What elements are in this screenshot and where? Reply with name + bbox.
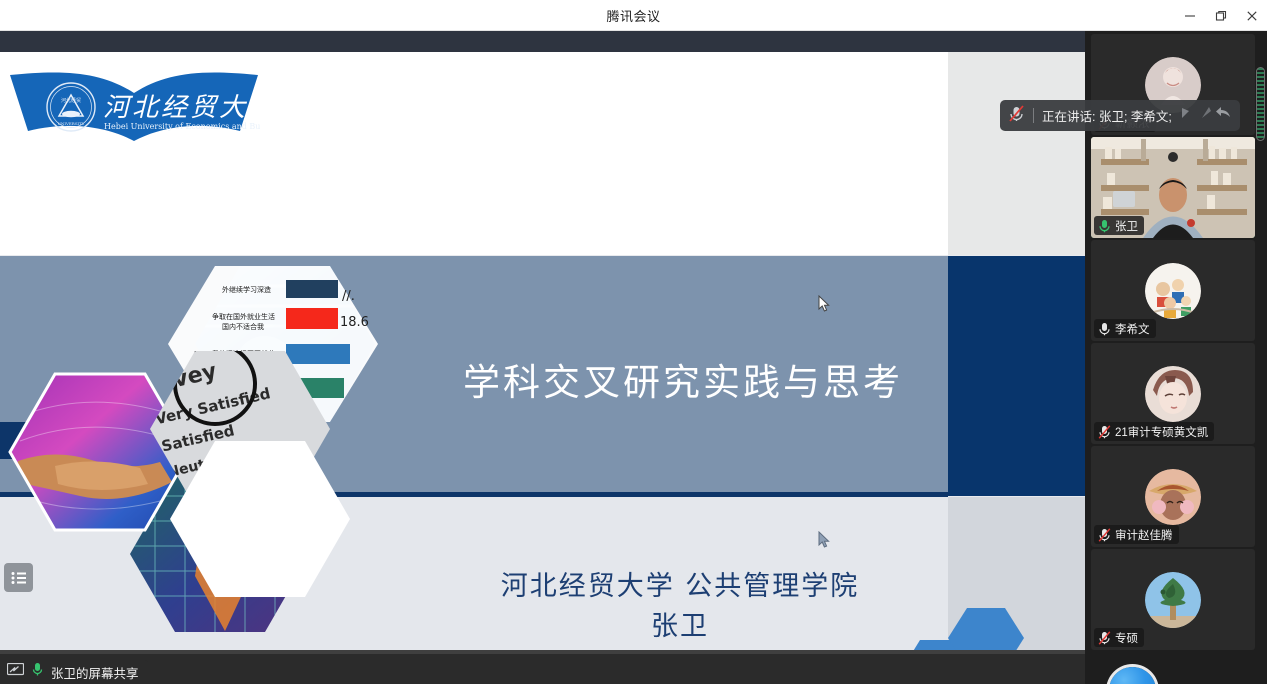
reply-arrow-icon[interactable] [1215,105,1232,126]
speaker-mic-muted-icon [1008,105,1025,127]
svg-text:外继续学习深造: 外继续学习深造 [222,285,271,294]
banner-divider [1033,108,1034,123]
participant-name: 张卫 [1115,218,1138,234]
mic-icon [1098,322,1111,336]
participant-tile[interactable]: 李希文 [1091,240,1255,341]
share-status-text: 张卫的屏幕共享 [51,663,139,682]
flag-icon-2[interactable] [1199,105,1212,126]
university-logo: 河北经贸 UNIVERSITY 河北经贸大学 Hebei University … [8,67,260,152]
active-speaker-text: 正在讲话: 张卫; 李希文; [1042,106,1172,125]
avatar [1145,572,1201,628]
participant-tile[interactable]: 张卫 [1091,137,1255,238]
avatar [1145,469,1201,525]
window-title: 腾讯会议 [606,6,660,25]
mic-muted-icon [1098,425,1111,439]
svg-text:河北经贸大学: 河北经贸大学 [103,93,260,123]
svg-text:河北经贸: 河北经贸 [61,97,81,104]
mic-muted-icon [1098,631,1111,645]
participant-name-bar: 李希文 [1094,319,1156,338]
screen-share-stage: 河北经贸 UNIVERSITY 河北经贸大学 Hebei University … [0,31,1085,684]
participant-name: 李希文 [1115,321,1150,337]
svg-text:UNIVERSITY: UNIVERSITY [58,121,85,126]
slide-mid-band-right [948,256,1085,496]
title-bar: 腾讯会议 [0,0,1267,31]
window-controls [1174,0,1267,31]
participant-name-bar: 21审计专硕黄文凯 [1094,422,1214,441]
mic-muted-icon [1098,528,1111,542]
slide-author: 张卫 [430,607,930,647]
presentation-slide: 河北经贸 UNIVERSITY 河北经贸大学 Hebei University … [0,52,1085,650]
participant-name: 审计赵佳腾 [1115,527,1173,543]
maximize-button[interactable] [1205,0,1236,31]
chart-value-label: 18.6 [340,315,369,330]
slide-affiliation: 河北经贸大学 公共管理学院 [501,571,860,602]
active-speaker-banner: 正在讲话: 张卫; 李希文; [1000,100,1240,131]
mic-active-icon [1098,219,1111,233]
participant-tile[interactable]: 21审计专硕黄文凯 [1091,343,1255,444]
sidebar-scrollbar[interactable] [1256,67,1265,679]
slide-hexagon-graphics: 外继续学习深造 争取在国外就业生活 国内不适合我 我依旧选择回国就业 业方向我会… [0,256,470,650]
meeting-window: 腾讯会议 [0,0,1267,684]
slide-hexagon-decoration [905,600,1055,650]
slide-right-strip [948,52,1085,255]
svg-text:国内不适合我: 国内不适合我 [222,322,264,331]
avatar [1145,366,1201,422]
participant-name: 21审计专硕黄文凯 [1115,424,1208,440]
participant-name-bar: 审计赵佳腾 [1094,525,1179,544]
close-button[interactable] [1236,0,1267,31]
screen-share-icon [7,663,24,682]
svg-text:Hebei University of Economics: Hebei University of Economics and Busine… [104,122,260,131]
participant-name-bar: 专硕 [1094,628,1144,647]
participant-name: 专硕 [1115,630,1138,646]
share-status-bar: 张卫的屏幕共享 [0,660,148,684]
slide-title: 学科交叉研究实践与思考 [463,352,933,406]
svg-text:争取在国外就业生活: 争取在国外就业生活 [212,312,275,321]
svg-text://.: //. [342,289,355,304]
slide-subtitle: 河北经贸大学 公共管理学院 张卫 [430,567,930,647]
flag-icon[interactable] [1180,105,1196,126]
slide-list-button[interactable] [4,563,33,592]
participant-tile[interactable]: 审计赵佳腾 [1091,446,1255,547]
banner-action-icons [1180,105,1232,126]
participant-tile[interactable]: 专硕 [1091,549,1255,650]
stage-top-bar [0,31,1085,52]
sidebar-scrollbar-thumb[interactable] [1256,67,1265,141]
minimize-button[interactable] [1174,0,1205,31]
avatar [1145,263,1201,319]
participant-name-bar: 张卫 [1094,216,1144,235]
share-mic-icon [31,662,44,682]
content-area: 河北经贸 UNIVERSITY 河北经贸大学 Hebei University … [0,31,1267,684]
stage-bottom-bar [0,654,1085,684]
